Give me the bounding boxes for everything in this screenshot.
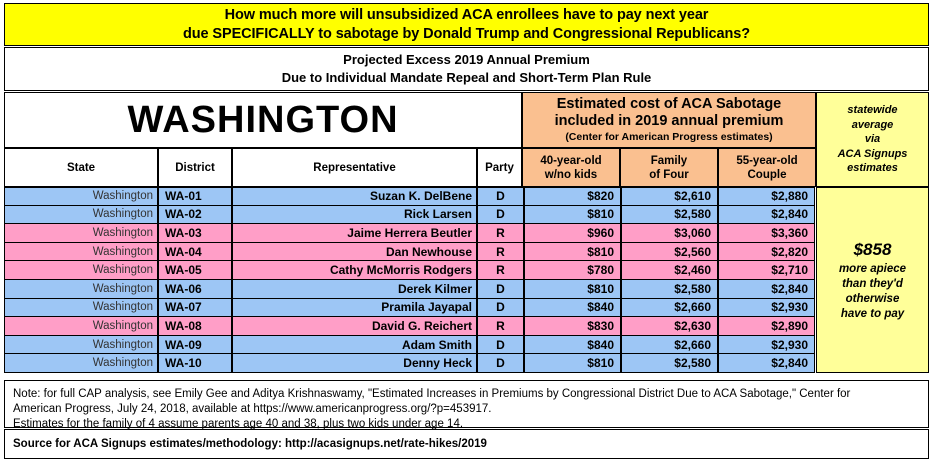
state-name: WASHINGTON [127, 101, 398, 139]
cell-cost_40: $810 [524, 206, 621, 225]
table-row: WashingtonWA-10Denny HeckD$810$2,580$2,8… [4, 354, 816, 373]
statewide-header-line-4: ACA Signups [838, 147, 908, 162]
statewide-header-line-1: statewide [847, 103, 897, 118]
cell-cost_55: $3,360 [718, 224, 815, 243]
cell-representative: Adam Smith [232, 336, 477, 355]
cell-district: WA-01 [158, 187, 232, 206]
cell-state: Washington [4, 354, 158, 373]
statewide-average-header: statewide average via ACA Signups estima… [816, 92, 929, 187]
cell-state: Washington [4, 187, 158, 206]
column-header-representative: Representative [232, 148, 477, 187]
cell-cost_family: $2,580 [621, 280, 718, 299]
cell-cost_55: $2,930 [718, 299, 815, 318]
cell-district: WA-08 [158, 317, 232, 336]
cell-representative: Denny Heck [232, 354, 477, 373]
column-header-cost-40: 40-year-old w/no kids [522, 148, 620, 187]
cell-cost_40: $810 [524, 243, 621, 262]
cell-state: Washington [4, 261, 158, 280]
column-header-district: District [158, 148, 232, 187]
cell-cost_40: $810 [524, 280, 621, 299]
cell-representative: Dan Newhouse [232, 243, 477, 262]
cap-header-line-3: (Center for American Progress estimates) [565, 130, 772, 144]
table-row: WashingtonWA-01Suzan K. DelBeneD$820$2,6… [4, 187, 816, 206]
column-header-cost-family-line-1: Family [649, 154, 689, 168]
cell-party: D [477, 299, 524, 318]
subtitle-block: Projected Excess 2019 Annual Premium Due… [4, 47, 929, 91]
cell-representative: Derek Kilmer [232, 280, 477, 299]
cell-district: WA-10 [158, 354, 232, 373]
cell-state: Washington [4, 243, 158, 262]
cell-state: Washington [4, 206, 158, 225]
column-header-party: Party [477, 148, 522, 187]
cell-cost_55: $2,710 [718, 261, 815, 280]
source-line: Source for ACA Signups estimates/methodo… [4, 429, 929, 459]
cell-representative: Jaime Herrera Beutler [232, 224, 477, 243]
cell-representative: Suzan K. DelBene [232, 187, 477, 206]
column-header-cost-55-line-2: Couple [736, 168, 797, 182]
district-table-body: WashingtonWA-01Suzan K. DelBeneD$820$2,6… [4, 187, 816, 373]
cell-state: Washington [4, 317, 158, 336]
cell-party: D [477, 187, 524, 206]
statewide-header-line-3: via [865, 132, 880, 147]
footnote-line-1: Note: for full CAP analysis, see Emily G… [13, 387, 920, 402]
cell-party: R [477, 261, 524, 280]
cell-party: R [477, 243, 524, 262]
column-header-cost-40-line-1: 40-year-old [540, 154, 601, 168]
cell-cost_55: $2,840 [718, 354, 815, 373]
cell-cost_55: $2,840 [718, 280, 815, 299]
cell-party: D [477, 280, 524, 299]
cell-representative: David G. Reichert [232, 317, 477, 336]
cell-cost_family: $2,660 [621, 299, 718, 318]
column-header-state: State [4, 148, 158, 187]
cell-party: R [477, 317, 524, 336]
column-header-cost-family-line-2: of Four [649, 168, 689, 182]
column-header-cost-55: 55-year-old Couple [718, 148, 816, 187]
column-header-cost-40-line-2: w/no kids [540, 168, 601, 182]
table-row: WashingtonWA-04Dan NewhouseR$810$2,560$2… [4, 243, 816, 262]
cell-cost_40: $960 [524, 224, 621, 243]
cell-district: WA-06 [158, 280, 232, 299]
statewide-average-line-4: have to pay [841, 307, 904, 322]
table-row: WashingtonWA-05Cathy McMorris RodgersR$7… [4, 261, 816, 280]
cell-cost_40: $840 [524, 299, 621, 318]
cell-representative: Cathy McMorris Rodgers [232, 261, 477, 280]
cell-cost_40: $830 [524, 317, 621, 336]
table-row: WashingtonWA-06Derek KilmerD$810$2,580$2… [4, 280, 816, 299]
headline-line-2: due SPECIFICALLY to sabotage by Donald T… [183, 25, 750, 44]
cell-state: Washington [4, 224, 158, 243]
cell-cost_family: $2,560 [621, 243, 718, 262]
cell-district: WA-04 [158, 243, 232, 262]
statewide-average-line-2: than they'd [842, 277, 903, 292]
statewide-average-line-1: more apiece [839, 262, 906, 277]
footnote-line-2: American Progress, July 24, 2018, availa… [13, 402, 920, 417]
headline-banner: How much more will unsubsidized ACA enro… [4, 3, 929, 46]
table-row: WashingtonWA-09Adam SmithD$840$2,660$2,9… [4, 336, 816, 355]
statewide-average-amount: $858 [854, 238, 892, 262]
statewide-header-line-2: average [852, 118, 894, 133]
cell-district: WA-09 [158, 336, 232, 355]
cell-district: WA-07 [158, 299, 232, 318]
cap-header-line-1: Estimated cost of ACA Sabotage [557, 96, 782, 113]
statewide-average-line-3: otherwise [846, 292, 900, 307]
cell-representative: Pramila Jayapal [232, 299, 477, 318]
cell-state: Washington [4, 280, 158, 299]
cell-cost_40: $810 [524, 354, 621, 373]
headline-line-1: How much more will unsubsidized ACA enro… [183, 6, 750, 25]
cell-cost_55: $2,820 [718, 243, 815, 262]
cell-state: Washington [4, 336, 158, 355]
column-header-cost-family: Family of Four [620, 148, 718, 187]
cell-cost_55: $2,840 [718, 206, 815, 225]
cell-party: D [477, 336, 524, 355]
cell-cost_55: $2,890 [718, 317, 815, 336]
cell-cost_family: $2,660 [621, 336, 718, 355]
cell-cost_family: $2,630 [621, 317, 718, 336]
statewide-header-line-5: estimates [847, 161, 898, 176]
cell-cost_55: $2,880 [718, 187, 815, 206]
subtitle-line-2: Due to Individual Mandate Repeal and Sho… [282, 69, 652, 87]
cell-party: D [477, 354, 524, 373]
table-row: WashingtonWA-07Pramila JayapalD$840$2,66… [4, 299, 816, 318]
table-row: WashingtonWA-02Rick LarsenD$810$2,580$2,… [4, 206, 816, 225]
cell-cost_family: $3,060 [621, 224, 718, 243]
state-title-cell: WASHINGTON [4, 92, 522, 148]
cell-district: WA-02 [158, 206, 232, 225]
cell-representative: Rick Larsen [232, 206, 477, 225]
column-header-cost-55-line-1: 55-year-old [736, 154, 797, 168]
footnote-block: Note: for full CAP analysis, see Emily G… [4, 380, 929, 428]
cell-district: WA-03 [158, 224, 232, 243]
cap-estimate-header: Estimated cost of ACA Sabotage included … [522, 92, 816, 148]
cell-cost_family: $2,460 [621, 261, 718, 280]
table-row: WashingtonWA-08David G. ReichertR$830$2,… [4, 317, 816, 336]
cell-party: R [477, 224, 524, 243]
cell-cost_family: $2,580 [621, 206, 718, 225]
infographic-table: How much more will unsubsidized ACA enro… [0, 0, 933, 463]
table-row: WashingtonWA-03Jaime Herrera BeutlerR$96… [4, 224, 816, 243]
cell-cost_40: $820 [524, 187, 621, 206]
cell-cost_55: $2,930 [718, 336, 815, 355]
cell-cost_40: $840 [524, 336, 621, 355]
cell-district: WA-05 [158, 261, 232, 280]
cell-cost_family: $2,580 [621, 354, 718, 373]
cell-cost_family: $2,610 [621, 187, 718, 206]
cell-party: D [477, 206, 524, 225]
cell-state: Washington [4, 299, 158, 318]
cap-header-line-2: included in 2019 annual premium [555, 113, 784, 130]
subtitle-line-1: Projected Excess 2019 Annual Premium [282, 51, 652, 69]
statewide-average-value: $858 more apiece than they'd otherwise h… [816, 187, 929, 373]
cell-cost_40: $780 [524, 261, 621, 280]
